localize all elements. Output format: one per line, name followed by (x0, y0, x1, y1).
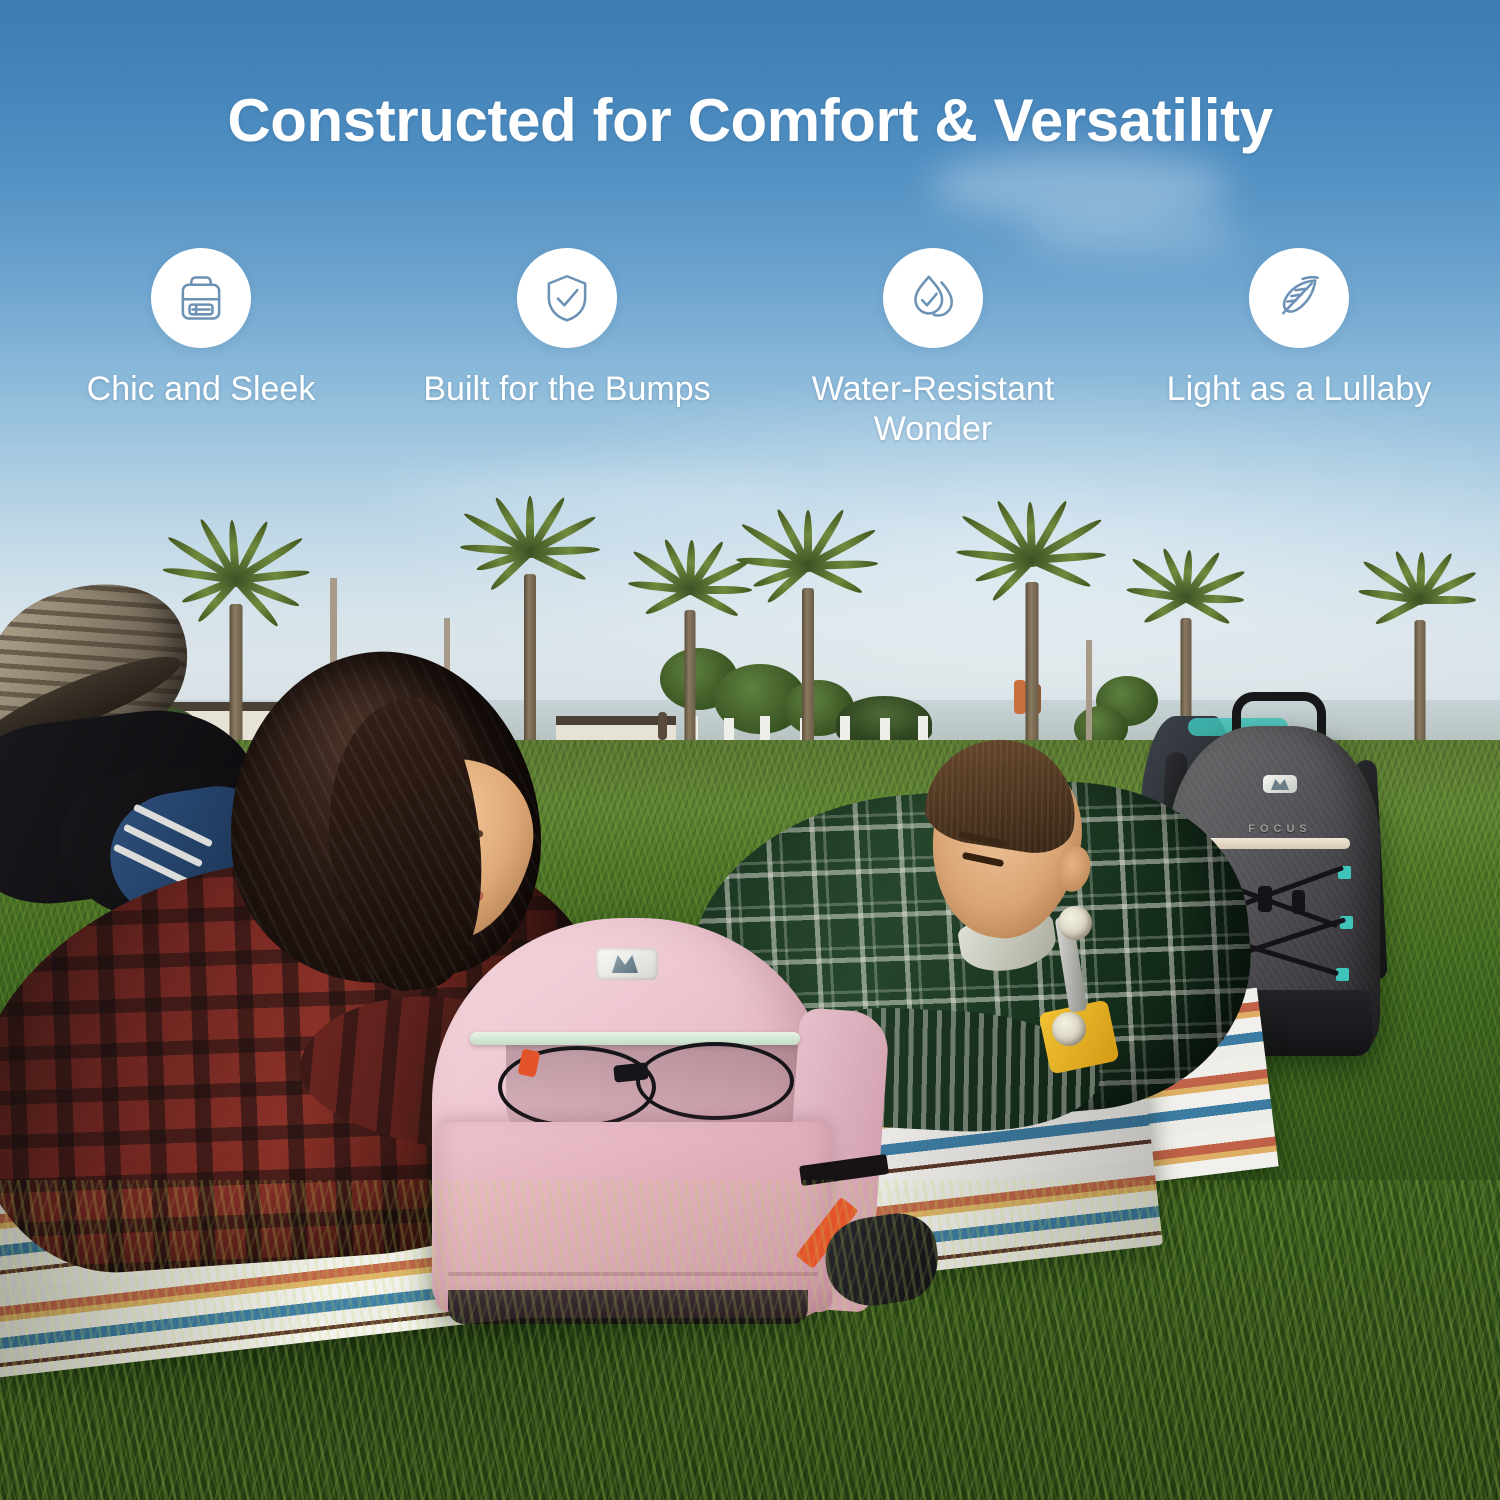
feature-badge (517, 248, 617, 348)
feature-item-built-for-the-bumps: Built for the Bumps (384, 248, 750, 450)
feature-label: Chic and Sleek (87, 370, 316, 410)
page-title: Constructed for Comfort & Versatility (0, 86, 1500, 155)
grey-backpack-bungee-toggle (1258, 886, 1272, 912)
feature-label: Built for the Bumps (423, 370, 710, 410)
water-drop-check-icon (904, 269, 962, 327)
feature-badge (883, 248, 983, 348)
pink-backpack-zipper (470, 1032, 800, 1045)
feature-badge (1249, 248, 1349, 348)
backpack-icon (172, 269, 230, 327)
foreground-grass-highlights (0, 1180, 1500, 1500)
feature-row: Chic and Sleek Built for the Bumps (0, 248, 1500, 450)
distant-person (1014, 680, 1026, 714)
feature-label: Light as a Lullaby (1167, 370, 1432, 410)
feature-badge (151, 248, 251, 348)
pink-backpack-bungee-cord (636, 1042, 794, 1120)
feature-item-chic-and-sleek: Chic and Sleek (18, 248, 384, 450)
grey-backpack-logo-badge (1263, 775, 1297, 793)
grey-backpack-brand-text: FOCUS (1238, 823, 1322, 835)
pink-backpack-bungee-toggle (613, 1062, 649, 1082)
skateboard-wheel (1052, 1012, 1086, 1046)
skateboard-wheel (1058, 906, 1092, 940)
feather-icon (1270, 269, 1328, 327)
feature-item-water-resistant-wonder: Water-Resistant Wonder (750, 248, 1116, 450)
marketing-poster: FOCUS (0, 0, 1500, 1500)
feature-label: Water-Resistant Wonder (768, 370, 1098, 450)
photo-scene: FOCUS (0, 0, 1500, 1500)
distant-person (658, 712, 667, 740)
grey-backpack-bungee-toggle (1292, 890, 1305, 914)
utility-pole (1086, 640, 1092, 750)
shield-check-icon (538, 269, 596, 327)
feature-item-light-as-a-lullaby: Light as a Lullaby (1116, 248, 1482, 450)
